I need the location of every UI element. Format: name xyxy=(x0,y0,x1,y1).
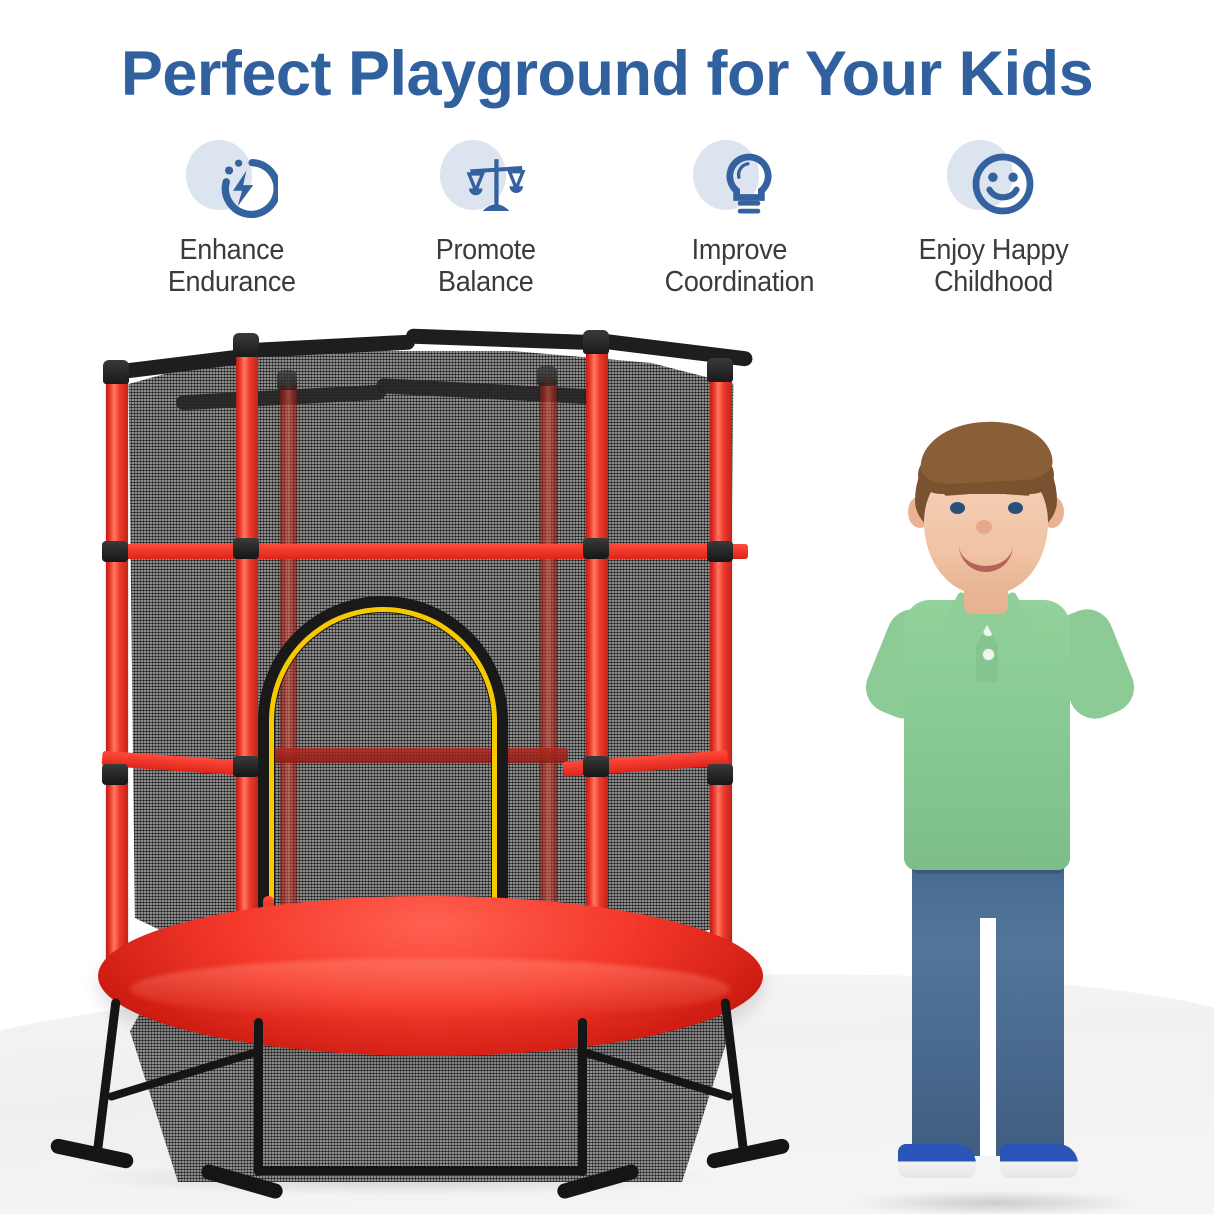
pole-cap-back xyxy=(277,370,297,390)
pole-cap xyxy=(103,360,129,384)
boy-giving-thumbs-up xyxy=(820,418,1180,1208)
lightning-bolt-icon xyxy=(184,138,280,228)
feature-item-improve-coordination: Improve Coordination xyxy=(613,138,867,299)
feature-item-enhance-endurance: Enhance Endurance xyxy=(105,138,359,299)
frame-pad-highlight xyxy=(130,958,730,1020)
nose xyxy=(976,520,992,534)
lightbulb-glyph xyxy=(713,146,785,222)
strap-clip xyxy=(583,538,609,559)
balance-scale-icon xyxy=(438,138,534,228)
strap-clip xyxy=(102,764,128,785)
lightning-bolt-glyph xyxy=(206,146,278,222)
right-eye xyxy=(1008,502,1023,514)
entry-zipper-track xyxy=(269,607,497,946)
enclosure-pole-front xyxy=(710,368,732,970)
jeans-leg-gap xyxy=(980,918,996,1156)
strap-clip xyxy=(583,756,609,777)
strap-clip xyxy=(102,541,128,562)
pole-cap xyxy=(707,358,733,382)
support-leg xyxy=(720,998,748,1158)
strap-clip xyxy=(707,764,733,785)
lightbulb-icon xyxy=(691,138,787,228)
net-strap-upper xyxy=(108,544,748,559)
leg-brace xyxy=(254,1166,584,1175)
smiley-face-icon xyxy=(945,138,1041,228)
feature-label: Improve Coordination xyxy=(665,234,815,299)
strap-clip xyxy=(233,538,259,559)
strap-clip xyxy=(707,541,733,562)
right-sneaker xyxy=(1000,1144,1078,1178)
feature-label: Promote Balance xyxy=(436,234,536,299)
feature-benefits-strip: Enhance Endurance Promote Balance xyxy=(105,138,1120,318)
top-rim-band xyxy=(406,329,606,351)
hair-top xyxy=(919,419,1054,486)
leg-foot xyxy=(49,1137,134,1169)
left-eye xyxy=(950,502,965,514)
pole-cap-back xyxy=(537,366,557,386)
leg-foot xyxy=(705,1137,790,1169)
pole-cap xyxy=(583,330,609,354)
feature-item-enjoy-happy-childhood: Enjoy Happy Childhood xyxy=(866,138,1120,299)
feature-item-promote-balance: Promote Balance xyxy=(359,138,613,299)
feature-label: Enjoy Happy Childhood xyxy=(918,234,1068,299)
trampoline-product xyxy=(58,318,818,1214)
page-title: Perfect Playground for Your Kids xyxy=(0,38,1214,110)
balance-scale-glyph xyxy=(460,146,532,222)
zippered-entry-door[interactable] xyxy=(258,596,508,946)
enclosure-pole-front xyxy=(236,343,258,983)
smiley-face-glyph xyxy=(967,146,1039,222)
strap-clip xyxy=(233,756,259,777)
enclosure-pole-back xyxy=(540,376,557,936)
enclosure-pole-front xyxy=(106,370,128,970)
support-leg xyxy=(578,1018,587,1176)
support-leg xyxy=(254,1018,263,1176)
feature-label: Enhance Endurance xyxy=(168,234,296,299)
left-sneaker xyxy=(898,1144,976,1178)
polo-button xyxy=(982,648,995,661)
enclosure-pole-front xyxy=(586,340,608,982)
product-photo-stage xyxy=(0,318,1214,1214)
support-leg xyxy=(92,998,120,1158)
pole-cap xyxy=(233,333,259,357)
